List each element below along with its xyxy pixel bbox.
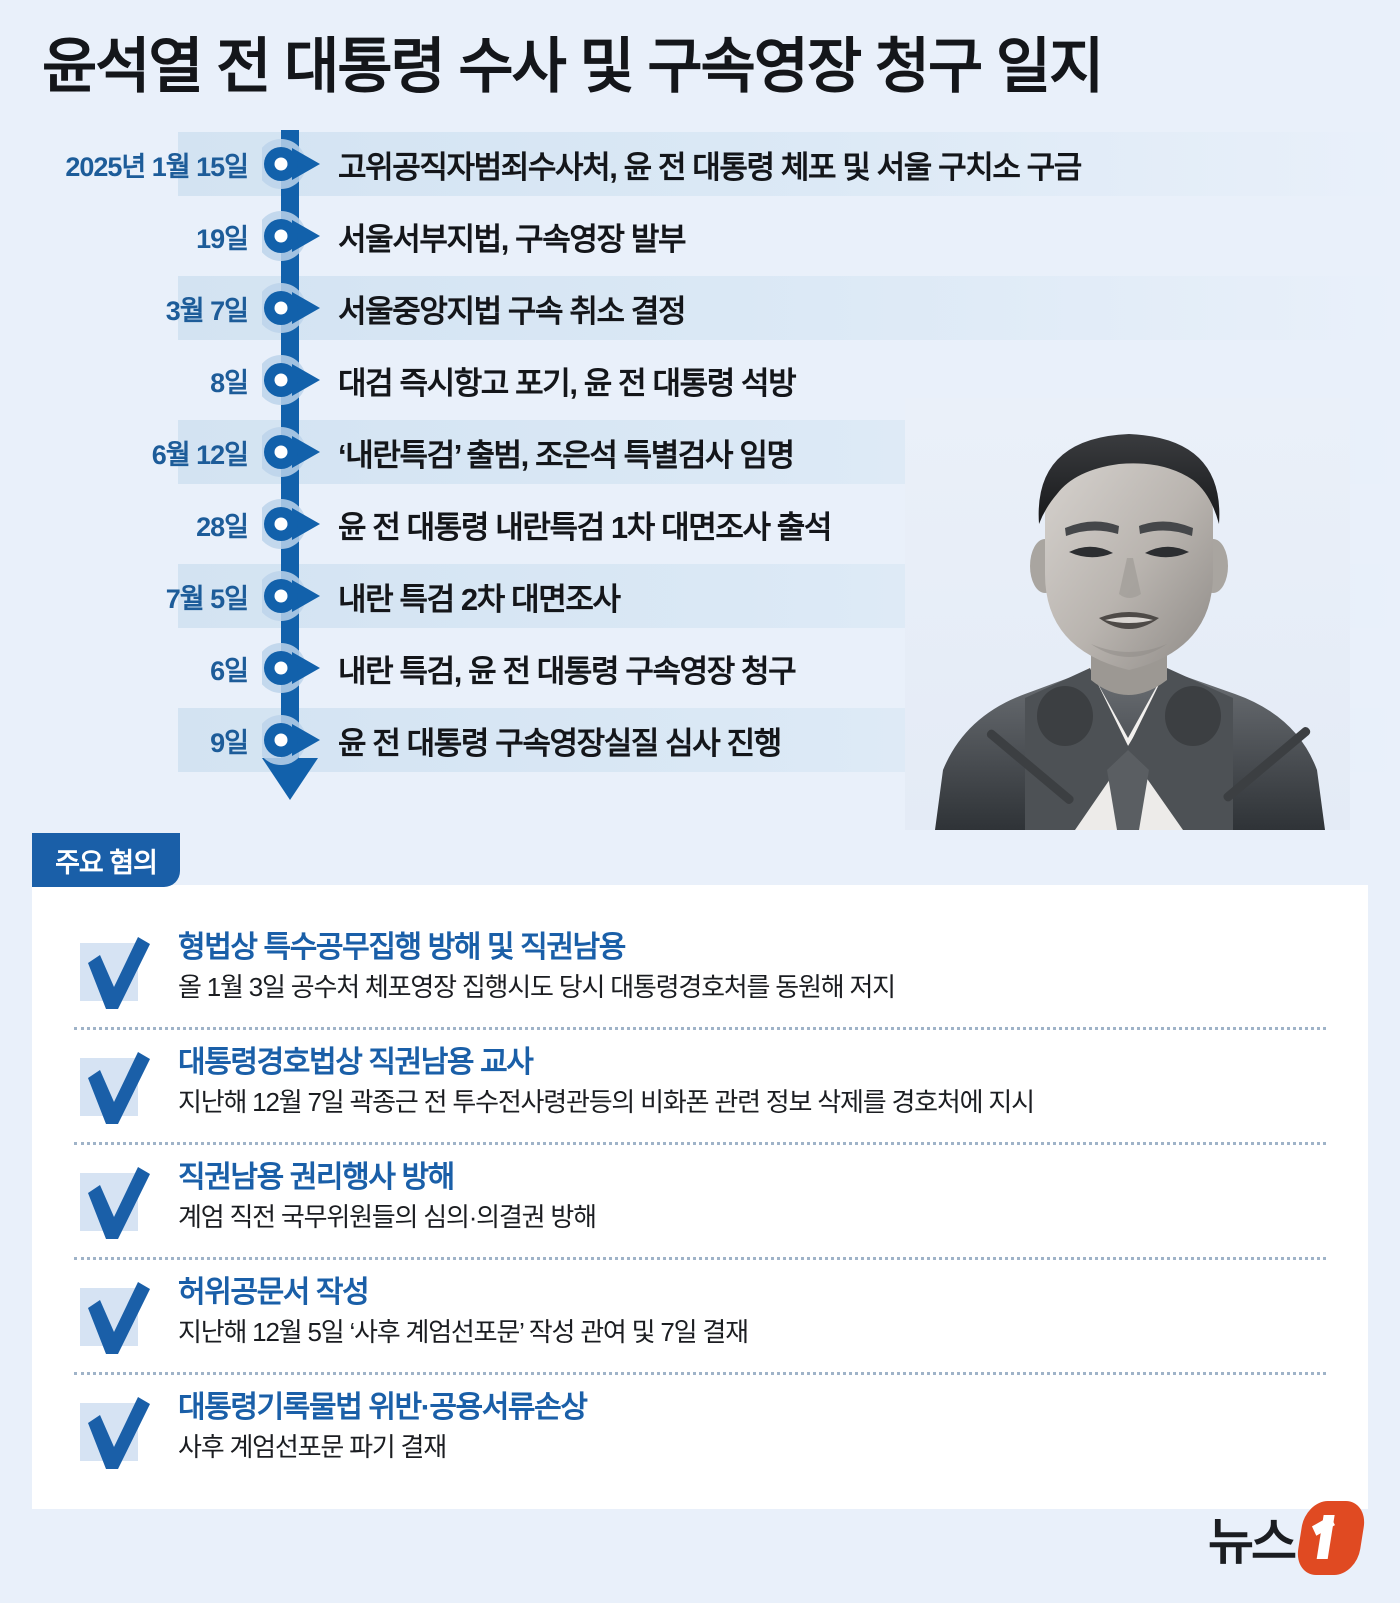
timeline-marker-icon [262,568,326,624]
charge-item: 형법상 특수공무집행 방해 및 직권남용올 1월 3일 공수처 체포영장 집행시… [74,915,1326,1030]
timeline-marker-icon [262,712,326,768]
timeline-date: 9일 [0,721,248,760]
charge-item: 대통령기록물법 위반·공용서류손상사후 계엄선포문 파기 결재 [74,1375,1326,1487]
charge-description: 지난해 12월 5일 ‘사후 계엄선포문’ 작성 관여 및 7일 결재 [178,1317,1326,1348]
charge-description: 올 1월 3일 공수처 체포영장 집행시도 당시 대통령경호처를 동원해 저지 [178,972,1326,1003]
charge-body: 형법상 특수공무집행 방해 및 직권남용올 1월 3일 공수처 체포영장 집행시… [178,929,1326,1003]
page-title: 윤석열 전 대통령 수사 및 구속영장 청구 일지 [42,18,1102,105]
timeline-event-text: 대검 즉시항고 포기, 윤 전 대통령 석방 [338,358,1380,403]
charges-card: 형법상 특수공무집행 방해 및 직권남용올 1월 3일 공수처 체포영장 집행시… [32,885,1368,1509]
news1-logo: 뉴스 [1208,1501,1362,1575]
charge-title: 대통령기록물법 위반·공용서류손상 [178,1391,1326,1426]
charges-badge-label: 주요 혐의 [55,841,157,880]
timeline-date: 8일 [0,361,248,400]
charge-title: 직권남용 권리행사 방해 [178,1161,1326,1196]
charge-description: 지난해 12월 7일 곽종근 전 투수전사령관등의 비화폰 관련 정보 삭제를 … [178,1087,1326,1118]
charge-body: 대통령기록물법 위반·공용서류손상사후 계엄선포문 파기 결재 [178,1389,1326,1463]
checkmark-icon [74,1159,156,1243]
timeline-marker-icon [262,208,326,264]
charge-title: 형법상 특수공무집행 방해 및 직권남용 [178,931,1326,966]
logo-wordmark: 뉴스 [1208,1502,1294,1574]
charge-item: 직권남용 권리행사 방해계엄 직전 국무위원들의 심의·의결권 방해 [74,1145,1326,1260]
timeline-row: 19일서울서부지법, 구속영장 발부 [0,200,1400,272]
timeline-date: 19일 [0,217,248,256]
charge-description: 사후 계엄선포문 파기 결재 [178,1432,1326,1463]
timeline-date: 28일 [0,505,248,544]
checkmark-icon [74,1044,156,1128]
charge-title: 대통령경호법상 직권남용 교사 [178,1046,1326,1081]
charge-body: 직권남용 권리행사 방해계엄 직전 국무위원들의 심의·의결권 방해 [178,1159,1326,1233]
timeline-marker-icon [262,424,326,480]
timeline-date: 2025년 1월 15일 [0,145,248,184]
checkmark-icon [74,1274,156,1358]
charges-badge: 주요 혐의 [32,833,180,887]
charge-body: 허위공문서 작성지난해 12월 5일 ‘사후 계엄선포문’ 작성 관여 및 7일… [178,1274,1326,1348]
logo-numeral-one-icon [1294,1501,1368,1575]
timeline-marker-icon [262,352,326,408]
checkmark-icon [74,929,156,1013]
charge-item: 대통령경호법상 직권남용 교사지난해 12월 7일 곽종근 전 투수전사령관등의… [74,1030,1326,1145]
charge-description: 계엄 직전 국무위원들의 심의·의결권 방해 [178,1202,1326,1233]
timeline-marker-icon [262,640,326,696]
checkmark-icon [74,1389,156,1473]
charge-body: 대통령경호법상 직권남용 교사지난해 12월 7일 곽종근 전 투수전사령관등의… [178,1044,1326,1118]
portrait-photo [905,398,1350,830]
timeline-marker-icon [262,136,326,192]
charges-section: 주요 혐의 형법상 특수공무집행 방해 및 직권남용올 1월 3일 공수처 체포… [32,833,1368,1509]
timeline-marker-icon [262,496,326,552]
timeline-date: 6일 [0,649,248,688]
timeline-marker-icon [262,280,326,336]
timeline-date: 3월 7일 [0,289,248,328]
timeline-date: 7월 5일 [0,577,248,616]
charge-item: 허위공문서 작성지난해 12월 5일 ‘사후 계엄선포문’ 작성 관여 및 7일… [74,1260,1326,1375]
timeline-row: 2025년 1월 15일고위공직자범죄수사처, 윤 전 대통령 체포 및 서울 … [0,128,1400,200]
timeline-row: 3월 7일서울중앙지법 구속 취소 결정 [0,272,1400,344]
timeline-date: 6월 12일 [0,433,248,472]
timeline-event-text: 고위공직자범죄수사처, 윤 전 대통령 체포 및 서울 구치소 구금 [338,142,1380,187]
charge-title: 허위공문서 작성 [178,1276,1326,1311]
timeline-event-text: 서울중앙지법 구속 취소 결정 [338,286,1380,331]
timeline-event-text: 서울서부지법, 구속영장 발부 [338,214,1380,259]
